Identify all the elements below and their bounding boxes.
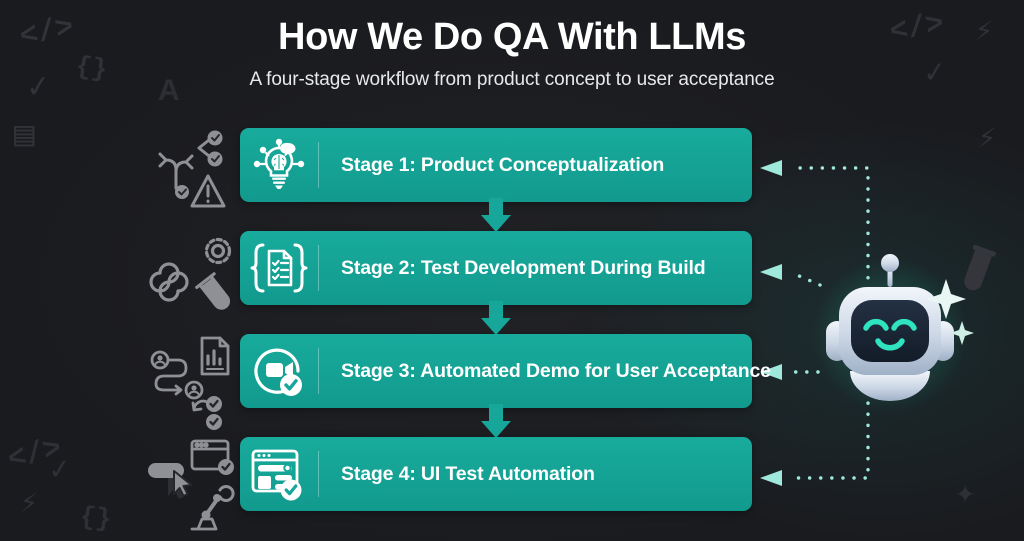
stage-bar-1[interactable]: Stage 1: Product Conceptualization — [240, 128, 752, 202]
header: How We Do QA With LLMs A four-stage work… — [0, 16, 1024, 91]
infinity-loop-icon — [151, 264, 187, 300]
test-tube-icon — [197, 274, 235, 314]
page-title: How We Do QA With LLMs — [0, 16, 1024, 59]
stage-label-1: Stage 1: Product Conceptualization — [319, 154, 664, 177]
browser-check-icon — [192, 441, 234, 475]
stage-label-4: Stage 4: UI Test Automation — [319, 463, 595, 486]
side-decor-stage-1 — [146, 128, 242, 231]
side-decor-stage-3 — [146, 334, 242, 437]
stage-bar-2[interactable]: Stage 2: Test Development During Build — [240, 231, 752, 305]
down-arrow-icon-2 — [478, 301, 514, 337]
stage-row-1: Stage 1: Product Conceptualization — [0, 128, 1024, 231]
stage-bar-3[interactable]: Stage 3: Automated Demo for User Accepta… — [240, 334, 752, 408]
stage-label-3: Stage 3: Automated Demo for User Accepta… — [319, 360, 771, 383]
down-arrow-icon-3 — [478, 404, 514, 440]
stage-label-2: Stage 2: Test Development During Build — [319, 257, 706, 280]
side-decor-stage-2 — [146, 231, 242, 334]
down-arrow-icon-1 — [478, 198, 514, 234]
report-chart-icon — [202, 338, 228, 374]
cursor-button-icon — [148, 463, 192, 496]
antenna-bulb — [881, 254, 899, 272]
stage-row-4: Stage 4: UI Test Automation — [0, 437, 1024, 540]
video-camera-check-icon — [240, 334, 318, 408]
gear-icon — [207, 240, 230, 263]
user-journey-icon — [152, 352, 202, 398]
page-subtitle: A four-stage workflow from product conce… — [0, 69, 1024, 91]
refresh-check-icon — [193, 396, 222, 430]
side-decor-stage-4 — [146, 437, 242, 540]
infographic-canvas: </>{}✓▤</>✓⚡{}</>⚡✓⚡✦ A How We Do QA Wit… — [0, 0, 1024, 541]
robot-face-screen — [851, 300, 929, 362]
browser-window-check-icon — [240, 437, 318, 511]
robot-arm-icon — [192, 487, 233, 530]
lightbulb-brain-icon — [240, 128, 318, 202]
code-braces-checklist-icon — [240, 231, 318, 305]
robot-mascot — [806, 243, 974, 411]
branch-fork-icon — [160, 154, 176, 188]
stage-bar-4[interactable]: Stage 4: UI Test Automation — [240, 437, 752, 511]
